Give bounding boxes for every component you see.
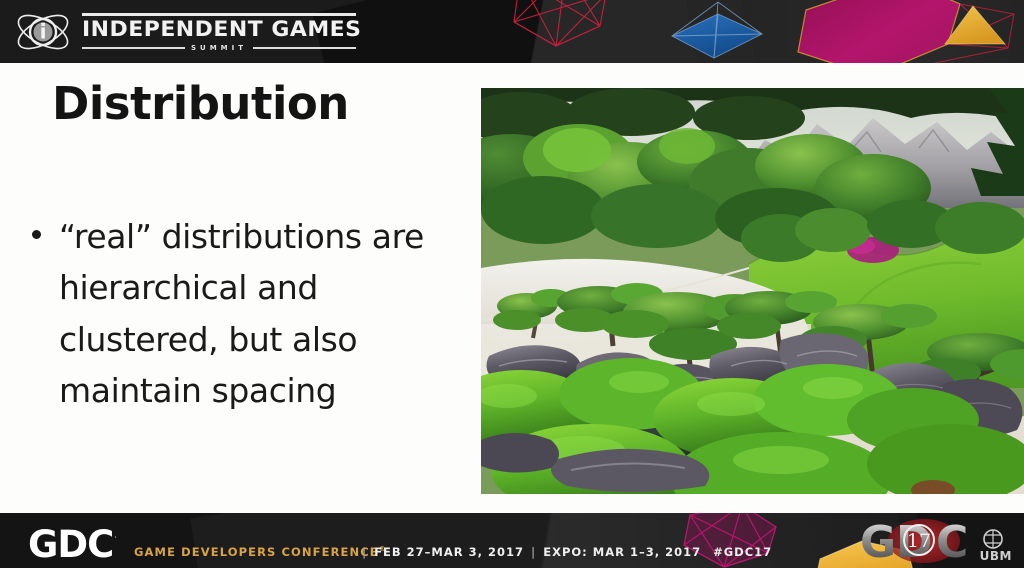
slide-canvas: INDEPENDENT GAMES SUMMIT Distribution “r…	[0, 0, 1024, 568]
red-wireframe-icon	[514, 0, 606, 46]
footer-bar: GDC˙ GAME DEVELOPERS CONFERENCE® |FEB 27…	[0, 513, 1024, 568]
list-item: “real” distributions are hierarchical an…	[28, 211, 468, 417]
igs-atom-icon	[14, 8, 72, 56]
footer-tagline: GAME DEVELOPERS CONFERENCE®	[134, 545, 387, 559]
conference-dates: FEB 27–MAR 3, 2017	[374, 545, 524, 559]
footer-separator-1: |	[355, 545, 374, 559]
logo-rule-right	[253, 47, 356, 49]
trademark-mark: ˙	[113, 537, 117, 547]
logo-rule-top	[82, 13, 356, 16]
svg-text:C: C	[936, 517, 968, 568]
expo-dates: EXPO: MAR 1–3, 2017	[543, 545, 701, 559]
svg-text:G: G	[860, 517, 896, 568]
brand-name: INDEPENDENT GAMES	[82, 19, 361, 41]
bullet-text: “real” distributions are hierarchical an…	[59, 211, 468, 417]
event-hashtag: #GDC17	[701, 545, 772, 559]
slide-content-area: Distribution “real” distributions are hi…	[0, 63, 1024, 513]
brand-subtitle-row: SUMMIT	[82, 44, 356, 52]
independent-games-summit-logo: INDEPENDENT GAMES SUMMIT	[14, 7, 314, 57]
gdc-wordmark: GDC˙	[28, 526, 117, 563]
garden-photograph	[481, 88, 1024, 494]
header-bar: INDEPENDENT GAMES SUMMIT	[0, 0, 1024, 63]
ubm-logo-icon	[984, 530, 1002, 548]
badge-year: 17	[907, 530, 931, 552]
footer-meta: |FEB 27–MAR 3, 2017|EXPO: MAR 1–3, 2017#…	[355, 545, 772, 559]
blue-octahedron-icon	[672, 2, 762, 58]
logo-rule-left	[82, 47, 185, 49]
bullet-dot-icon	[32, 230, 41, 239]
footer-separator-2: |	[524, 545, 543, 559]
page-title: Distribution	[52, 77, 349, 130]
brand-subtitle: SUMMIT	[185, 44, 253, 52]
ubm-label: UBM	[980, 549, 1012, 563]
